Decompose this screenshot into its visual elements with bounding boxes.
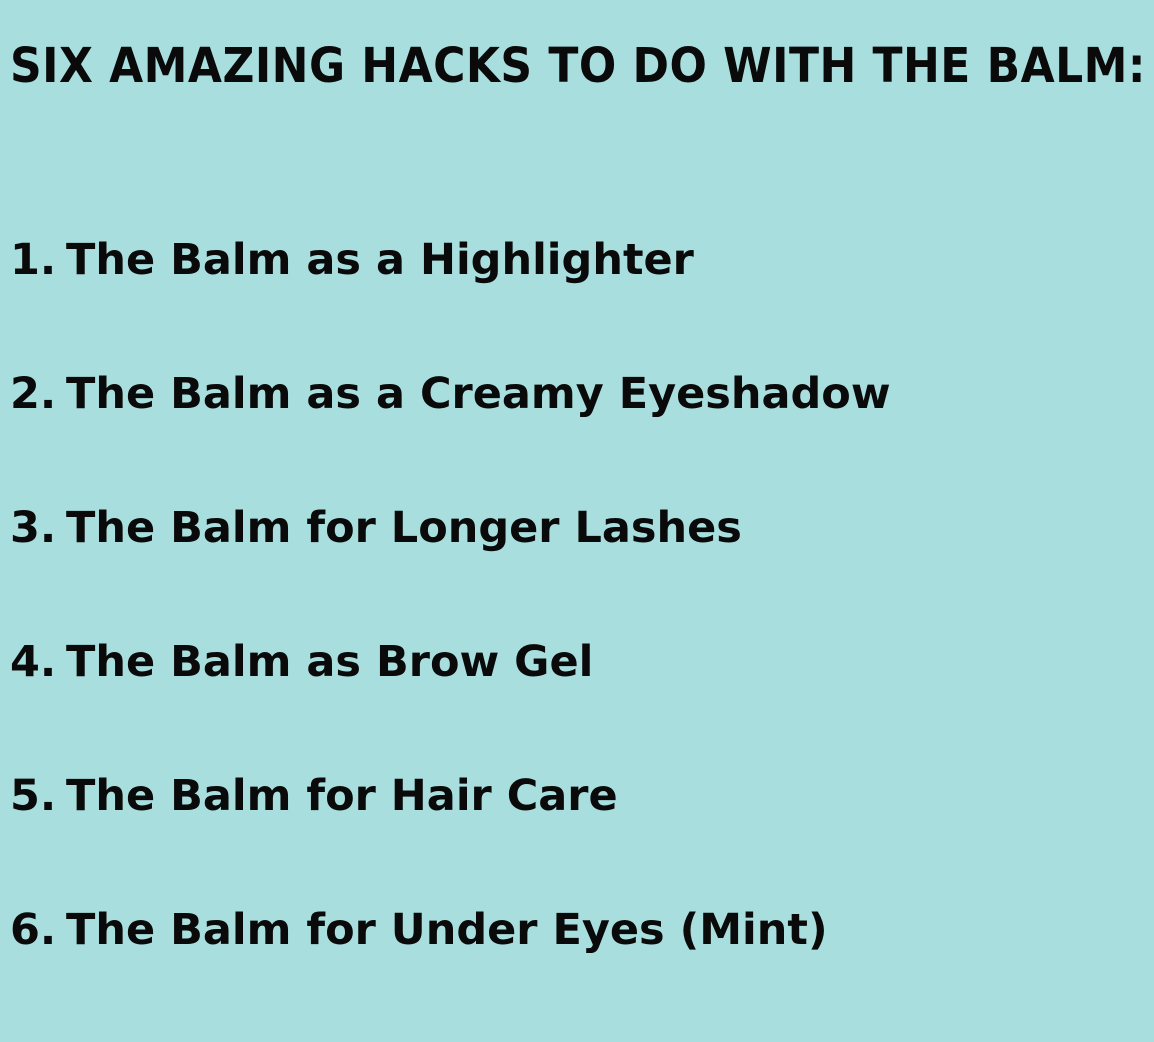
list-item-label: The Balm as Brow Gel (66, 634, 593, 690)
list-item: 6. The Balm for Under Eyes (Mint) (10, 902, 1144, 1036)
hacks-list: 1. The Balm as a Highlighter 2. The Balm… (10, 232, 1144, 1036)
list-item: 1. The Balm as a Highlighter (10, 232, 1144, 366)
list-item-label: The Balm for Longer Lashes (66, 500, 742, 556)
list-item-label: The Balm for Hair Care (66, 768, 618, 824)
list-item: 4. The Balm as Brow Gel (10, 634, 1144, 768)
list-item-label: The Balm as a Creamy Eyeshadow (66, 366, 891, 422)
list-item: 2. The Balm as a Creamy Eyeshadow (10, 366, 1144, 500)
list-item: 3. The Balm for Longer Lashes (10, 500, 1144, 634)
list-item-index: 6. (10, 902, 66, 958)
page-title: SIX AMAZING HACKS TO DO WITH THE BALM: (10, 36, 1055, 96)
list-item-label: The Balm as a Highlighter (66, 232, 694, 288)
slide-canvas: SIX AMAZING HACKS TO DO WITH THE BALM: 1… (0, 0, 1154, 1042)
list-item-label: The Balm for Under Eyes (Mint) (66, 902, 828, 958)
list-item-index: 3. (10, 500, 66, 556)
list-item-index: 4. (10, 634, 66, 690)
list-item-index: 5. (10, 768, 66, 824)
list-item: 5. The Balm for Hair Care (10, 768, 1144, 902)
list-item-index: 1. (10, 232, 66, 288)
list-item-index: 2. (10, 366, 66, 422)
